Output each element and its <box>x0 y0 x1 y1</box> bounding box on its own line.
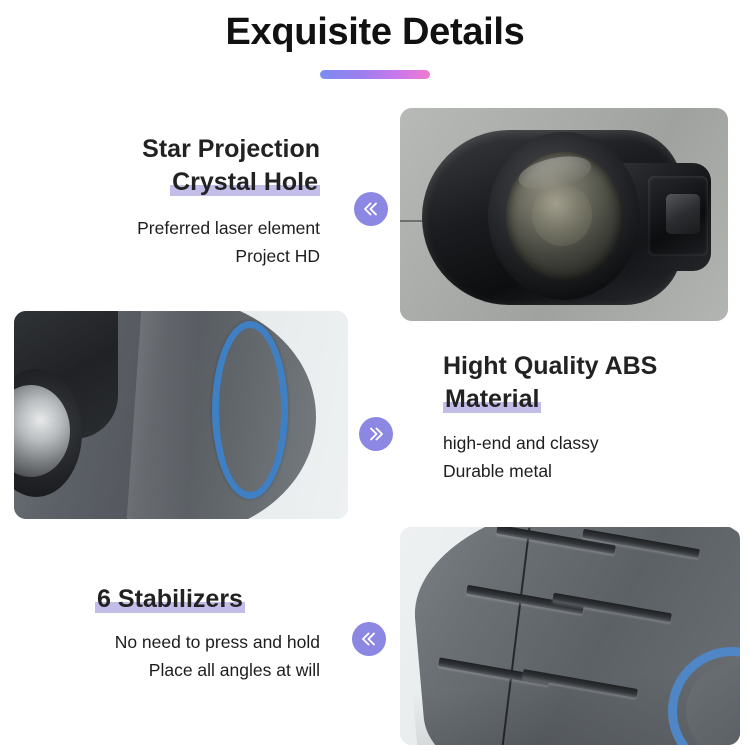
feature-heading-line-1: Hight Quality ABS <box>443 350 743 383</box>
product-detail-infographic: Exquisite Details <box>0 0 750 750</box>
page-title: Exquisite Details <box>0 12 750 54</box>
highlighted-heading-text: Material <box>443 385 541 413</box>
feature-body: No need to press and hold Place all angl… <box>20 628 320 685</box>
feature-body-line-2: Place all angles at will <box>20 656 320 684</box>
feature-heading-line-1: 6 Stabilizers <box>20 583 320 616</box>
feature-text-star-projection: Star Projection Crystal Hole Preferred l… <box>30 133 320 271</box>
feature-heading: Hight Quality ABS Material <box>443 350 743 415</box>
chevron-double-left-icon <box>352 622 386 656</box>
feature-body: high-end and classy Durable metal <box>443 429 743 486</box>
feature-body-line-1: high-end and classy <box>443 429 743 457</box>
feature-body: Preferred laser element Project HD <box>30 214 320 271</box>
feature-text-stabilizers: 6 Stabilizers No need to press and hold … <box>20 583 320 684</box>
feature-heading: 6 Stabilizers <box>20 583 320 616</box>
projector-lens-closeup-photo <box>400 108 728 321</box>
feature-text-abs-material: Hight Quality ABS Material high-end and … <box>443 350 743 486</box>
feature-heading-line-2: Material <box>443 383 743 416</box>
feature-heading-line-2: Crystal Hole <box>30 166 320 199</box>
header: Exquisite Details <box>0 12 750 79</box>
blue-ring-body-photo <box>14 311 348 519</box>
feature-heading-line-1: Star Projection <box>30 133 320 166</box>
chevron-double-right-icon <box>359 417 393 451</box>
stabilizer-vents-photo <box>400 527 740 745</box>
feature-body-line-1: Preferred laser element <box>30 214 320 242</box>
title-underline-gradient-bar <box>320 70 430 79</box>
chevron-double-left-icon <box>354 192 388 226</box>
highlighted-heading-text: 6 Stabilizers <box>95 585 245 613</box>
feature-body-line-1: No need to press and hold <box>20 628 320 656</box>
feature-body-line-2: Durable metal <box>443 457 743 485</box>
blue-accent-ring <box>212 321 288 499</box>
feature-heading: Star Projection Crystal Hole <box>30 133 320 198</box>
sensor-chip <box>666 194 700 234</box>
feature-body-line-2: Project HD <box>30 242 320 270</box>
highlighted-heading-text: Crystal Hole <box>170 168 320 196</box>
lens-core-reflection <box>532 184 592 246</box>
